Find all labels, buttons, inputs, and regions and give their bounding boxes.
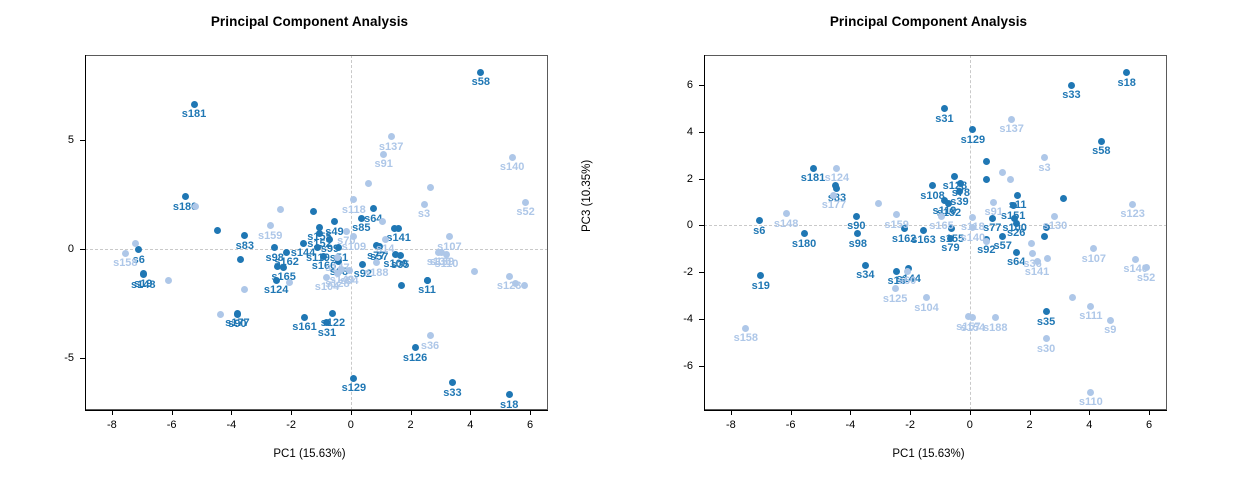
x-tick	[411, 410, 412, 415]
x-tick-label: 0	[967, 419, 973, 431]
plot-frame-left	[85, 55, 548, 410]
x-tick	[530, 410, 531, 415]
x-tick-label: -6	[786, 419, 796, 431]
x-tick	[1030, 410, 1031, 415]
x-tick	[970, 410, 971, 415]
x-tick-label: -4	[226, 419, 236, 431]
x-tick-label: -8	[726, 419, 736, 431]
y-tick	[699, 132, 704, 133]
x-tick	[351, 410, 352, 415]
x-tick	[112, 410, 113, 415]
page-title-right: Principal Component Analysis	[619, 14, 1238, 29]
x-tick	[910, 410, 911, 415]
x-tick-label: -8	[107, 419, 117, 431]
x-tick-label: 6	[527, 419, 533, 431]
x-tick-label: 4	[467, 419, 473, 431]
x-tick-label: 2	[408, 419, 414, 431]
y-tick	[699, 366, 704, 367]
pca-panel-pc1-pc2: Principal Component Analysis s58s181s180…	[0, 0, 619, 500]
x-tick-label: 2	[1027, 419, 1033, 431]
x-tick	[172, 410, 173, 415]
y-axis-title-wrap-right: PC3 (10.35%)	[619, 0, 691, 500]
plot-frame-right	[704, 55, 1167, 410]
x-tick	[231, 410, 232, 415]
x-tick	[1089, 410, 1090, 415]
x-axis-title-left: PC1 (15.63%)	[0, 448, 619, 460]
y-tick	[80, 249, 85, 250]
y-tick	[80, 358, 85, 359]
x-axis-line-right	[704, 410, 1167, 411]
page-title: Principal Component Analysis	[0, 14, 619, 29]
x-axis-title-right: PC1 (15.63%)	[619, 448, 1238, 460]
y-tick	[699, 85, 704, 86]
y-axis-title-right: PC3 (10.35%)	[581, 160, 593, 232]
x-tick-label: -2	[905, 419, 915, 431]
x-tick-label: 4	[1086, 419, 1092, 431]
y-tick	[699, 225, 704, 226]
y-tick	[80, 140, 85, 141]
pca-figure: Principal Component Analysis s58s181s180…	[0, 0, 1238, 500]
x-tick-label: 6	[1146, 419, 1152, 431]
x-tick	[850, 410, 851, 415]
x-tick-label: -4	[845, 419, 855, 431]
x-tick	[470, 410, 471, 415]
y-axis-title-wrap-left: PC2 (10.54%)	[0, 0, 72, 500]
y-tick	[699, 272, 704, 273]
pca-panel-pc1-pc3: Principal Component Analysis s18s33s58s3…	[619, 0, 1238, 500]
x-tick	[291, 410, 292, 415]
x-tick-label: 0	[348, 419, 354, 431]
x-tick	[731, 410, 732, 415]
x-tick	[791, 410, 792, 415]
x-axis-line-left	[85, 410, 548, 411]
y-axis-line-left	[85, 55, 86, 410]
y-tick	[699, 319, 704, 320]
y-tick	[699, 179, 704, 180]
x-tick	[1149, 410, 1150, 415]
x-tick-label: -2	[286, 419, 296, 431]
x-tick-label: -6	[167, 419, 177, 431]
y-axis-line-right	[704, 55, 705, 410]
